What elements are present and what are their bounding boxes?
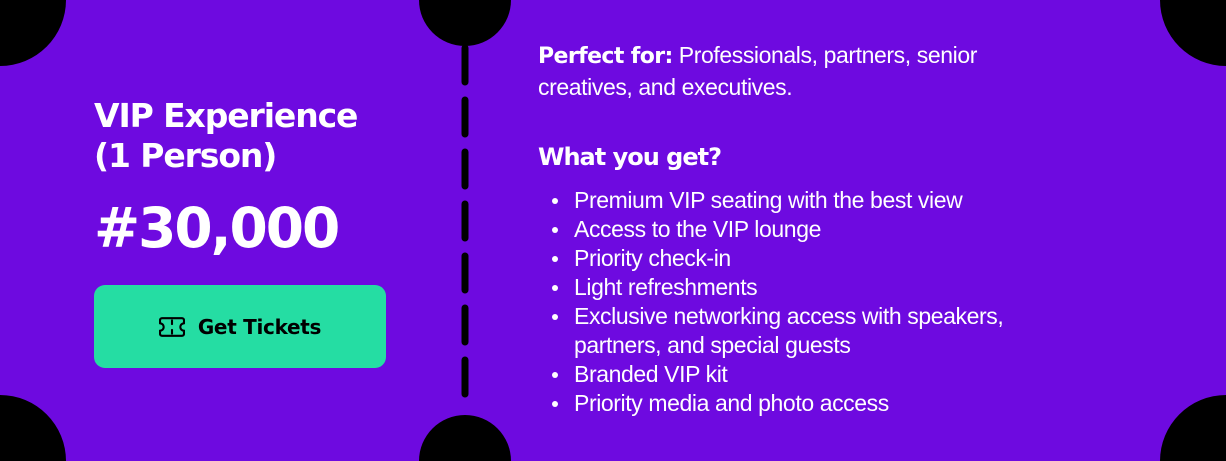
plan-summary: VIP Experience (1 Person) #30,000 [94, 96, 414, 258]
list-item-label: Branded VIP kit [574, 361, 727, 387]
list-item: Access to the VIP lounge [538, 215, 1068, 244]
bullet-dot-icon [552, 401, 558, 407]
bullet-dot-icon [552, 314, 558, 320]
list-item: Exclusive networking access with speaker… [538, 302, 1068, 360]
bullet-dot-icon [552, 198, 558, 204]
bullet-dot-icon [552, 285, 558, 291]
bullet-dot-icon [552, 227, 558, 233]
list-item: Branded VIP kit [538, 360, 1068, 389]
plan-price: #30,000 [94, 198, 414, 258]
list-item-label: Priority media and photo access [574, 390, 889, 416]
list-item: Light refreshments [538, 273, 1068, 302]
list-item: Premium VIP seating with the best view [538, 186, 1068, 215]
audience-label: Perfect for: [538, 44, 673, 69]
get-tickets-button[interactable]: Get Tickets [94, 285, 386, 368]
vip-ticket-card: VIP Experience (1 Person) #30,000 Get Ti… [0, 0, 1226, 461]
list-item-label: Premium VIP seating with the best view [574, 187, 962, 213]
list-item-label: Light refreshments [574, 274, 757, 300]
list-item: Priority check-in [538, 244, 1068, 273]
list-item-label: Priority check-in [574, 245, 731, 271]
bullet-dot-icon [552, 372, 558, 378]
audience-line: Perfect for: Professionals, partners, se… [538, 40, 1008, 102]
list-item: Priority media and photo access [538, 389, 1068, 418]
page-title: VIP Experience (1 Person) [94, 96, 414, 176]
ticket-details: Perfect for: Professionals, partners, se… [538, 40, 1198, 418]
benefits-list: Premium VIP seating with the best viewAc… [538, 186, 1198, 418]
bullet-dot-icon [552, 256, 558, 262]
benefits-heading: What you get? [538, 143, 1198, 171]
list-item-label: Exclusive networking access with speaker… [574, 303, 1003, 358]
get-tickets-label: Get Tickets [198, 315, 321, 339]
ticket-icon [159, 317, 185, 337]
list-item-label: Access to the VIP lounge [574, 216, 821, 242]
